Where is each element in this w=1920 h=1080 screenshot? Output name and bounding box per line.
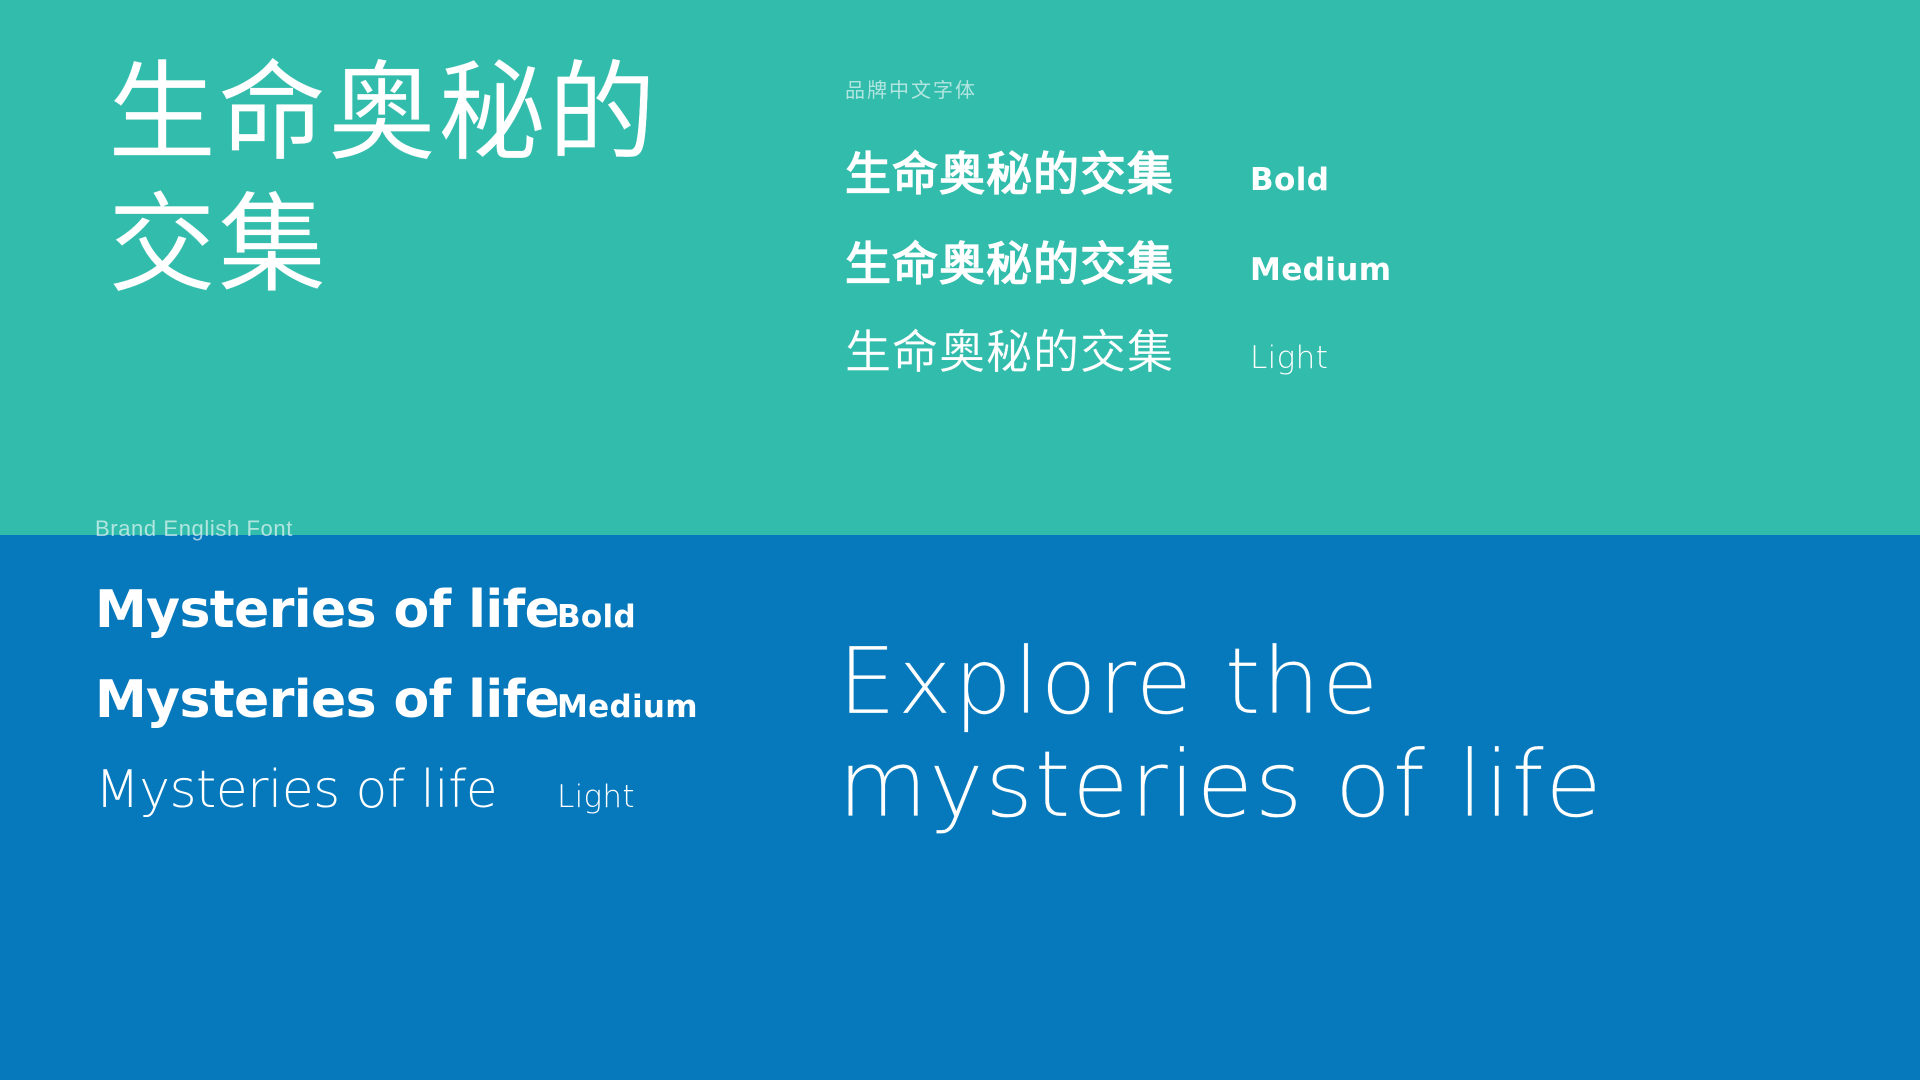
brand-typography-board: 生命奥秘的 交集 品牌中文字体 生命奥秘的交集 Bold 生命奥秘的交集 Med…	[0, 0, 1920, 1080]
english-specimen-row-medium: Mysteries of life Medium	[95, 670, 698, 730]
english-sample-medium: Mysteries of life	[95, 670, 557, 730]
chinese-specimen-row-light: 生命奥秘的交集 Light	[845, 316, 1328, 382]
chinese-specimen-row-bold: 生命奥秘的交集 Bold	[845, 138, 1329, 204]
chinese-weight-label-bold: Bold	[1250, 162, 1329, 198]
english-weight-label-light: Light	[557, 779, 635, 815]
english-weight-label-medium: Medium	[557, 689, 698, 725]
chinese-font-section-label: 品牌中文字体	[845, 74, 977, 103]
english-specimen-row-light: Mysteries of life Light	[95, 760, 635, 820]
chinese-display-headline: 生命奥秘的 交集	[108, 48, 708, 312]
english-display-headline: Explore the mysteries of life	[838, 630, 1898, 836]
chinese-sample-bold: 生命奥秘的交集	[845, 138, 1250, 204]
chinese-specimen-row-medium: 生命奥秘的交集 Medium	[845, 228, 1391, 294]
chinese-sample-medium: 生命奥秘的交集	[845, 228, 1250, 294]
chinese-font-panel: 生命奥秘的 交集 品牌中文字体 生命奥秘的交集 Bold 生命奥秘的交集 Med…	[0, 0, 1920, 535]
chinese-weight-label-medium: Medium	[1250, 252, 1391, 288]
chinese-sample-light: 生命奥秘的交集	[845, 316, 1250, 382]
chinese-weight-label-light: Light	[1250, 340, 1328, 376]
english-sample-bold: Mysteries of life	[95, 580, 557, 640]
english-sample-light: Mysteries of life	[95, 760, 557, 820]
english-specimen-row-bold: Mysteries of life Bold	[95, 580, 636, 640]
english-font-section-label: Brand English Font	[95, 516, 293, 542]
english-weight-label-bold: Bold	[557, 599, 636, 635]
